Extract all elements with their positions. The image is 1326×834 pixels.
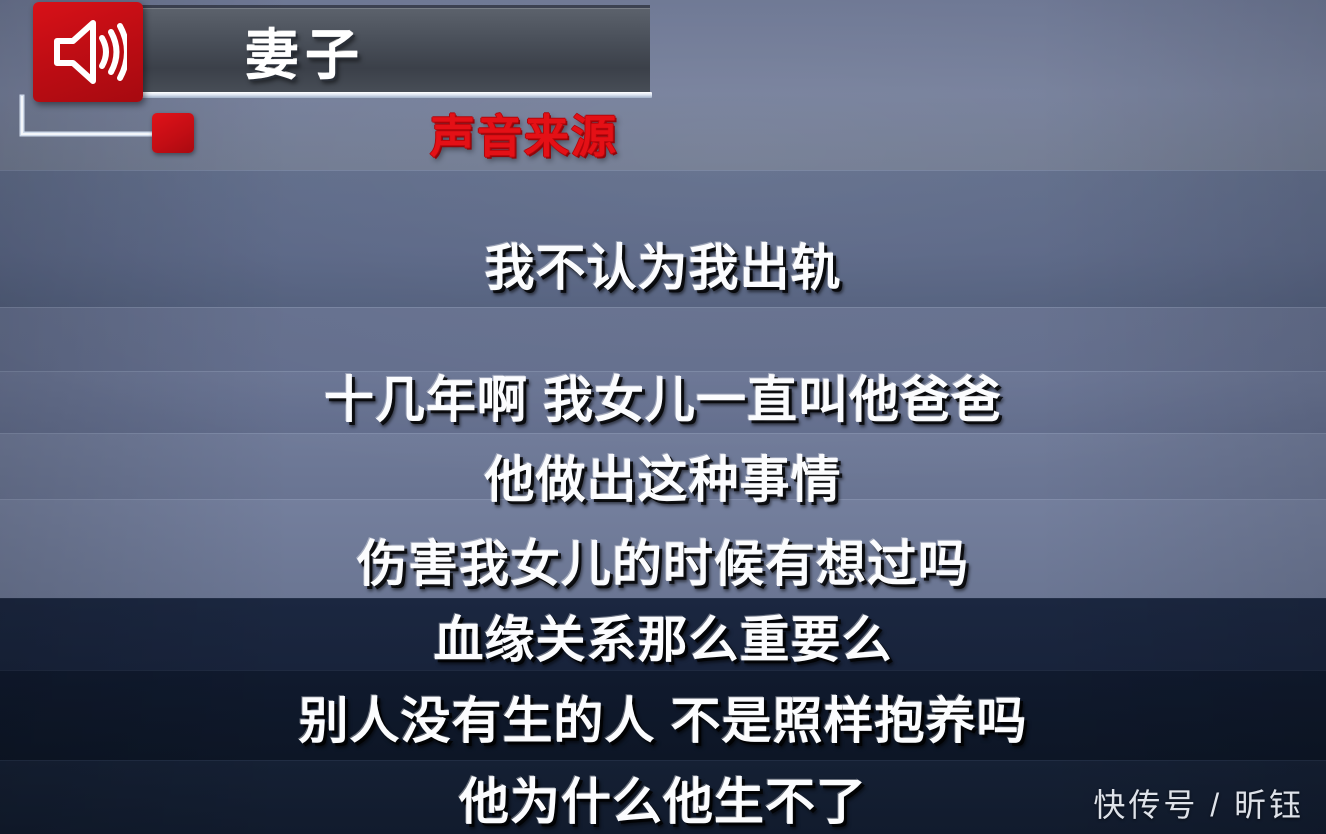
video-frame: 妻子 声音来源 我不认为我出轨 十几年啊 我女儿一直叫他爸爸 他做出这种事情 伤… — [0, 0, 1326, 834]
subtitle-line: 十几年啊 我女儿一直叫他爸爸 — [0, 360, 1326, 432]
subtitle-line: 别人没有生的人 不是照样抱养吗 — [0, 681, 1326, 753]
channel-watermark: 快传号 / 昕钰 — [1093, 780, 1304, 826]
subtitle-line: 伤害我女儿的时候有想过吗 — [0, 524, 1326, 596]
subtitle-line: 血缘关系那么重要么 — [0, 600, 1326, 672]
subtitle-block: 我不认为我出轨 十几年啊 我女儿一直叫他爸爸 他做出这种事情 伤害我女儿的时候有… — [0, 0, 1326, 834]
subtitle-line: 他做出这种事情 — [0, 440, 1326, 512]
subtitle-line: 我不认为我出轨 — [0, 228, 1326, 300]
